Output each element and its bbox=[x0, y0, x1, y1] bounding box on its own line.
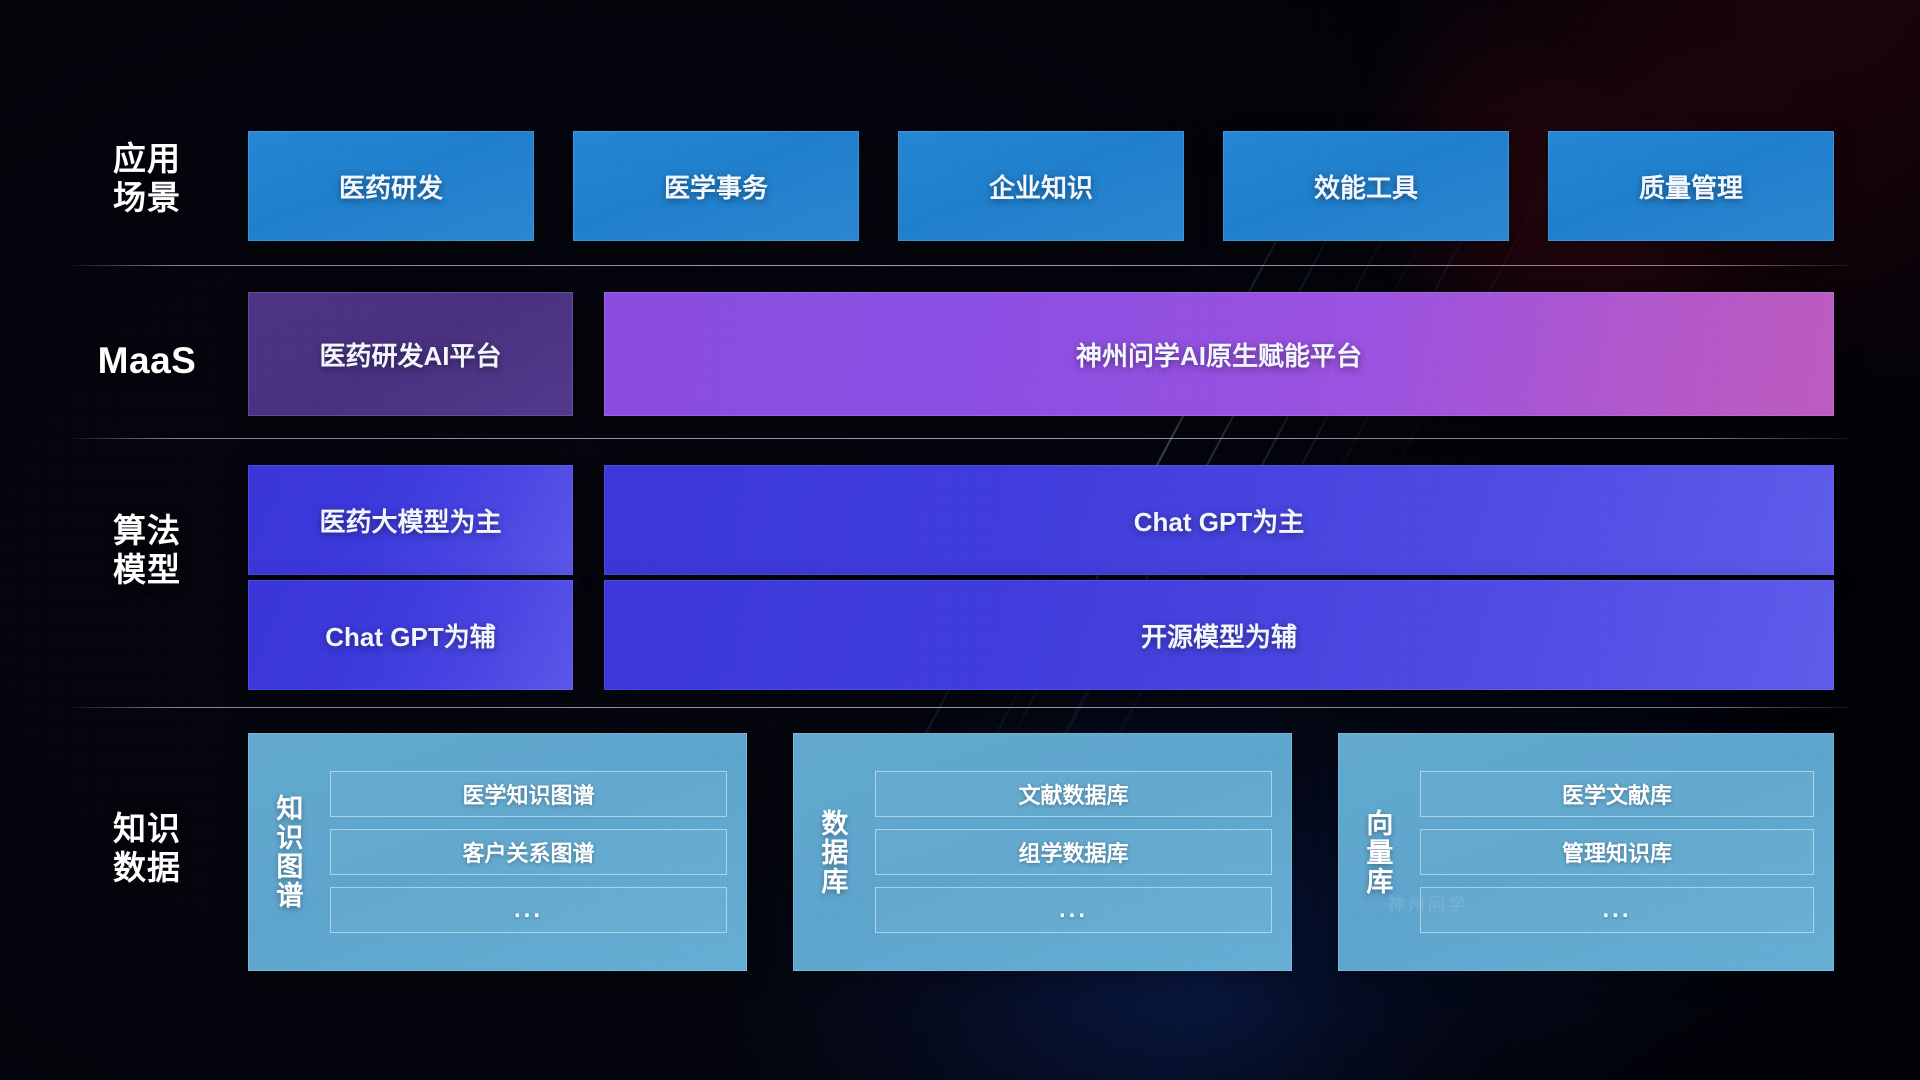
algo-box-chatgpt-primary[interactable]: Chat GPT为主 bbox=[604, 465, 1834, 575]
row-label-line2: 场景 bbox=[72, 179, 222, 218]
knowledge-item[interactable]: 管理知识库 bbox=[1420, 829, 1814, 875]
divider-3 bbox=[72, 707, 1848, 708]
knowledge-item[interactable]: 文献数据库 bbox=[875, 771, 1272, 817]
knowledge-item-more[interactable]: ... bbox=[330, 887, 727, 933]
algo-box-pharma-llm-primary[interactable]: 医药大模型为主 bbox=[248, 465, 573, 575]
app-box-efficiency-tools[interactable]: 效能工具 bbox=[1223, 131, 1509, 241]
app-box-medicine-rd[interactable]: 医药研发 bbox=[248, 131, 534, 241]
row-label-line1: 应用 bbox=[72, 140, 222, 179]
architecture-diagram: 应用 场景 医药研发 医学事务 企业知识 效能工具 质量管理 MaaS 医药研发… bbox=[0, 0, 1920, 1080]
knowledge-panel-database[interactable]: 数据库 文献数据库 组学数据库 ... bbox=[793, 733, 1292, 971]
knowledge-panel-title-vector: 向量库 bbox=[1338, 733, 1416, 971]
row-label-line2: 数据 bbox=[72, 849, 222, 888]
app-box-quality-management[interactable]: 质量管理 bbox=[1548, 131, 1834, 241]
row-label-line2: 模型 bbox=[72, 551, 222, 590]
row-label-line1: 算法 bbox=[72, 512, 222, 551]
algo-box-chatgpt-secondary[interactable]: Chat GPT为辅 bbox=[248, 580, 573, 690]
knowledge-panel-items-vector: 医学文献库 管理知识库 ... bbox=[1416, 733, 1834, 971]
app-box-enterprise-knowledge[interactable]: 企业知识 bbox=[898, 131, 1184, 241]
row-label-application-scenarios: 应用 场景 bbox=[72, 140, 222, 218]
knowledge-item[interactable]: 医学文献库 bbox=[1420, 771, 1814, 817]
maas-box-pharma-ai-platform[interactable]: 医药研发AI平台 bbox=[248, 292, 573, 416]
knowledge-panel-vector[interactable]: 向量库 医学文献库 管理知识库 ... bbox=[1338, 733, 1834, 971]
app-box-medical-affairs[interactable]: 医学事务 bbox=[573, 131, 859, 241]
row-label-algorithm-models: 算法 模型 bbox=[72, 512, 222, 590]
knowledge-item[interactable]: 客户关系图谱 bbox=[330, 829, 727, 875]
row-label-knowledge-data: 知识 数据 bbox=[72, 810, 222, 888]
knowledge-item-more[interactable]: ... bbox=[875, 887, 1272, 933]
divider-1 bbox=[72, 265, 1848, 266]
knowledge-panel-title-graph: 知识图谱 bbox=[248, 733, 326, 971]
algo-box-opensource-secondary[interactable]: 开源模型为辅 bbox=[604, 580, 1834, 690]
knowledge-panel-title-database: 数据库 bbox=[793, 733, 871, 971]
knowledge-item[interactable]: 组学数据库 bbox=[875, 829, 1272, 875]
knowledge-panel-items-graph: 医学知识图谱 客户关系图谱 ... bbox=[326, 733, 747, 971]
divider-2 bbox=[72, 438, 1848, 439]
maas-box-shenzhou-wenxue-platform[interactable]: 神州问学AI原生赋能平台 bbox=[604, 292, 1834, 416]
knowledge-item-more[interactable]: ... bbox=[1420, 887, 1814, 933]
knowledge-panel-items-database: 文献数据库 组学数据库 ... bbox=[871, 733, 1292, 971]
knowledge-item[interactable]: 医学知识图谱 bbox=[330, 771, 727, 817]
row-label-line1: 知识 bbox=[72, 810, 222, 849]
knowledge-panel-graph[interactable]: 知识图谱 医学知识图谱 客户关系图谱 ... bbox=[248, 733, 747, 971]
row-label-maas: MaaS bbox=[72, 339, 222, 383]
